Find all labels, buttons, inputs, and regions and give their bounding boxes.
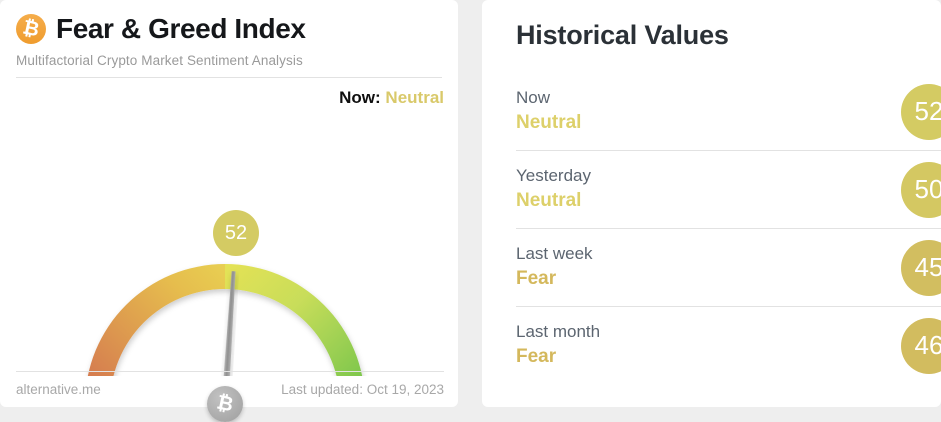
gauge-arc-right <box>225 264 365 376</box>
gauge-card-header: ₿ Fear & Greed Index Multifactorial Cryp… <box>0 0 458 78</box>
source-link[interactable]: alternative.me <box>16 382 101 397</box>
page-subtitle: Multifactorial Crypto Market Sentiment A… <box>16 53 442 68</box>
history-period: Now <box>516 87 941 108</box>
hub-bitcoin-glyph: ₿ <box>215 392 235 415</box>
bitcoin-glyph: ₿ <box>21 17 41 40</box>
history-inner: Historical Values Now Neutral 52 Yesterd… <box>482 0 941 384</box>
gauge-arc-left <box>85 264 225 376</box>
gauge-visual: 52 ₿ <box>0 114 458 376</box>
page-root: ₿ Fear & Greed Index Multifactorial Cryp… <box>0 0 941 407</box>
history-period: Yesterday <box>516 165 941 186</box>
history-sentiment: Neutral <box>516 110 941 136</box>
page-title: Fear & Greed Index <box>56 15 306 43</box>
now-status-row: Now: Neutral <box>0 84 458 118</box>
now-prefix: Now: <box>339 88 381 107</box>
list-item[interactable]: Last week Fear 45 <box>516 228 941 306</box>
card-gap <box>458 0 482 407</box>
last-updated-text: Last updated: Oct 19, 2023 <box>281 382 444 397</box>
bitcoin-icon: ₿ <box>16 14 46 44</box>
fear-greed-gauge-card: ₿ Fear & Greed Index Multifactorial Cryp… <box>0 0 458 407</box>
history-rows-list: Now Neutral 52 Yesterday Neutral 50 Last… <box>516 73 941 384</box>
gauge-value-badge: 52 <box>213 210 259 256</box>
historical-values-card: Historical Values Now Neutral 52 Yesterd… <box>482 0 941 407</box>
now-sentiment: Neutral <box>385 88 444 107</box>
header-divider <box>16 77 442 78</box>
history-title: Historical Values <box>516 20 941 51</box>
now-status-label: Now: Neutral <box>339 88 444 108</box>
list-item[interactable]: Last month Fear 46 <box>516 306 941 384</box>
title-row: ₿ Fear & Greed Index <box>16 14 442 44</box>
gauge-hub-bitcoin-icon: ₿ <box>207 386 243 422</box>
history-period: Last week <box>516 243 941 264</box>
history-sentiment: Neutral <box>516 188 941 214</box>
list-item[interactable]: Now Neutral 52 <box>516 73 941 150</box>
history-period: Last month <box>516 321 941 342</box>
history-sentiment: Fear <box>516 266 941 292</box>
list-item[interactable]: Yesterday Neutral 50 <box>516 150 941 228</box>
footer-divider <box>16 371 444 372</box>
history-sentiment: Fear <box>516 344 941 370</box>
